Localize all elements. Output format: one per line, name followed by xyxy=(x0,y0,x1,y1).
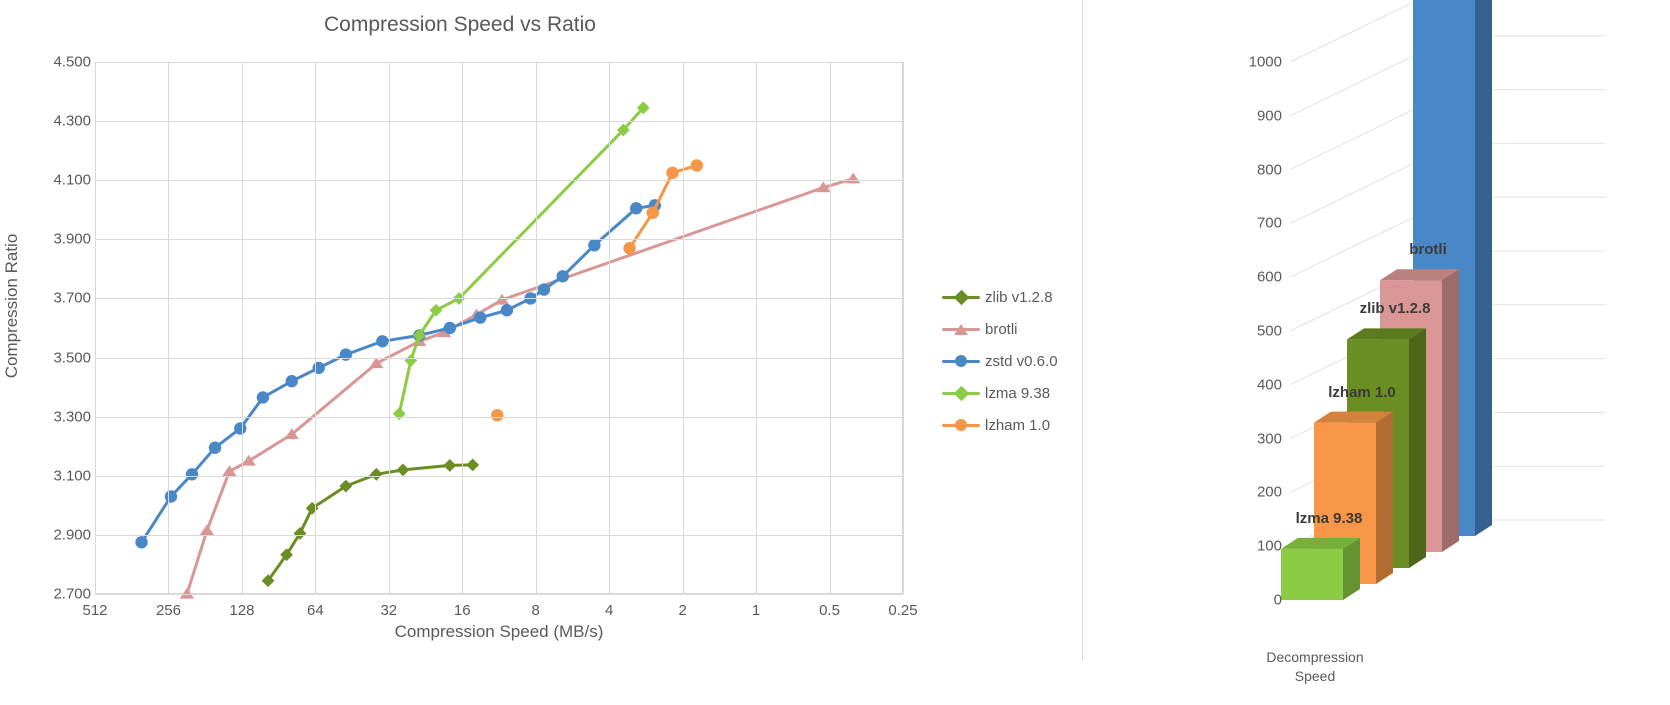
bar-series-layer xyxy=(1085,0,1670,705)
legend-marker-icon xyxy=(942,418,980,432)
bar-data-label: zlib v1.2.8 xyxy=(1360,300,1431,317)
data-point xyxy=(200,524,214,535)
y-gridline xyxy=(95,476,903,477)
series-line xyxy=(187,179,853,594)
data-point xyxy=(630,202,642,214)
y-gridline xyxy=(95,417,903,418)
data-point xyxy=(234,422,246,434)
x-gridline xyxy=(168,62,169,594)
x-axis-tick-label: 128 xyxy=(202,602,282,619)
data-point xyxy=(666,167,678,179)
legend-item-label: lzma 9.38 xyxy=(985,385,1050,402)
y-gridline xyxy=(95,180,903,181)
x-gridline xyxy=(389,62,390,594)
data-point xyxy=(393,407,406,420)
data-point xyxy=(501,304,513,316)
legend-marker-icon xyxy=(942,386,980,400)
bar-y-axis-tick-label: 100 xyxy=(1212,538,1282,555)
scatter-series xyxy=(491,159,703,421)
legend-item[interactable]: zstd v0.6.0 xyxy=(942,345,1082,377)
data-point xyxy=(257,391,269,403)
x-gridline xyxy=(683,62,684,594)
data-point xyxy=(491,409,503,421)
x-gridline xyxy=(315,62,316,594)
y-axis-tick-label: 4.500 xyxy=(0,54,91,71)
x-axis-tick-label: 0.25 xyxy=(863,602,943,619)
bar-x-axis-title-line2: Speed xyxy=(1225,667,1405,686)
legend-item-label: brotli xyxy=(985,321,1018,338)
x-axis-tick-label: 64 xyxy=(275,602,355,619)
scatter-series-layer xyxy=(95,62,903,594)
x-axis-tick-label: 4 xyxy=(569,602,649,619)
bar-y-axis-tick-label: 800 xyxy=(1212,161,1282,178)
x-gridline xyxy=(242,62,243,594)
x-gridline xyxy=(536,62,537,594)
x-axis-title: Compression Speed (MB/s) xyxy=(95,622,903,642)
bar-data-label: lzma 9.38 xyxy=(1296,510,1363,527)
bar-chart-panel: 01002003004005006007008009001000zstd v0.… xyxy=(1085,0,1670,705)
data-point xyxy=(397,463,410,476)
bar-y-axis-tick-label: 300 xyxy=(1212,430,1282,447)
series-line xyxy=(399,108,643,414)
x-gridline xyxy=(462,62,463,594)
y-axis-tick-label: 2.900 xyxy=(0,526,91,543)
chart-page: Compression Speed vs Ratio 5122561286432… xyxy=(0,0,1670,705)
x-gridline xyxy=(609,62,610,594)
data-point xyxy=(370,468,383,481)
bar-y-axis-tick-label: 400 xyxy=(1212,376,1282,393)
bar-y-axis-tick-label: 0 xyxy=(1212,592,1282,609)
y-gridline xyxy=(95,358,903,359)
scatter-plot-area: 51225612864321684210.50.254.5004.3004.10… xyxy=(95,62,903,594)
y-axis-tick-label: 2.700 xyxy=(0,586,91,603)
scatter-chart-panel: Compression Speed vs Ratio 5122561286432… xyxy=(0,0,1080,705)
legend-item-label: zstd v0.6.0 xyxy=(985,353,1058,370)
bar-side-face xyxy=(1475,0,1492,536)
bar-y-axis-tick-label: 700 xyxy=(1212,215,1282,232)
data-point xyxy=(186,468,198,480)
bar-y-axis-tick-label: 200 xyxy=(1212,484,1282,501)
x-axis-tick-label: 512 xyxy=(55,602,135,619)
data-point xyxy=(466,458,479,471)
legend-item-label: lzham 1.0 xyxy=(985,417,1050,434)
bar-x-axis-title: Decompression Speed xyxy=(1225,648,1405,686)
data-point xyxy=(557,270,569,282)
bar-column[interactable] xyxy=(1281,538,1360,600)
bar-data-label: lzham 1.0 xyxy=(1328,384,1396,401)
data-point xyxy=(376,335,388,347)
x-axis-tick-label: 256 xyxy=(128,602,208,619)
page-title: Compression Speed vs Ratio xyxy=(0,13,920,37)
data-point xyxy=(165,490,177,502)
y-gridline xyxy=(95,535,903,536)
legend-item[interactable]: lzham 1.0 xyxy=(942,409,1082,441)
legend-item[interactable]: lzma 9.38 xyxy=(942,377,1082,409)
bar-side-face xyxy=(1409,328,1426,568)
data-point xyxy=(474,311,486,323)
y-gridline xyxy=(95,121,903,122)
series-line xyxy=(268,465,473,581)
data-point xyxy=(538,283,550,295)
data-point xyxy=(444,322,456,334)
legend: zlib v1.2.8brotlizstd v0.6.0lzma 9.38lzh… xyxy=(942,281,1082,441)
data-point xyxy=(647,207,659,219)
scatter-series xyxy=(262,458,479,587)
scatter-series xyxy=(135,199,661,548)
bar-side-face xyxy=(1442,269,1459,552)
legend-marker-icon xyxy=(942,322,980,336)
data-point xyxy=(443,459,456,472)
data-point xyxy=(691,159,703,171)
panel-divider xyxy=(1082,0,1083,660)
data-point xyxy=(404,354,417,367)
x-axis-tick-label: 32 xyxy=(349,602,429,619)
bar-y-axis-tick-label: 600 xyxy=(1212,269,1282,286)
x-axis-tick-label: 16 xyxy=(422,602,502,619)
data-point xyxy=(222,465,236,476)
data-point xyxy=(369,357,383,368)
legend-marker-icon xyxy=(942,354,980,368)
legend-marker-icon xyxy=(942,290,980,304)
x-axis-tick-label: 0.5 xyxy=(790,602,870,619)
bar-front-face xyxy=(1281,549,1343,600)
data-point xyxy=(846,173,860,184)
data-point xyxy=(588,239,600,251)
data-point xyxy=(623,242,635,254)
y-gridline xyxy=(95,298,903,299)
x-gridline xyxy=(830,62,831,594)
x-axis-tick-label: 1 xyxy=(716,602,796,619)
legend-item[interactable]: zlib v1.2.8 xyxy=(942,281,1082,313)
y-gridline xyxy=(95,594,903,595)
bar-y-axis-tick-label: 1000 xyxy=(1212,54,1282,71)
data-point xyxy=(286,375,298,387)
y-gridline xyxy=(95,239,903,240)
x-gridline xyxy=(756,62,757,594)
x-gridline xyxy=(903,62,904,594)
legend-item[interactable]: brotli xyxy=(942,313,1082,345)
data-point xyxy=(209,442,221,454)
bar-y-axis-tick-label: 500 xyxy=(1212,323,1282,340)
bar-x-axis-title-line1: Decompression xyxy=(1225,648,1405,667)
bar-data-label: brotli xyxy=(1409,241,1447,258)
x-axis-tick-label: 8 xyxy=(496,602,576,619)
y-axis-title: Compression Ratio xyxy=(2,126,22,486)
data-point xyxy=(340,348,352,360)
bar-side-face xyxy=(1376,412,1393,584)
series-line xyxy=(142,205,655,542)
bar-y-axis-tick-label: 900 xyxy=(1212,107,1282,124)
data-point xyxy=(135,536,147,548)
x-axis-tick-label: 2 xyxy=(643,602,723,619)
legend-item-label: zlib v1.2.8 xyxy=(985,289,1053,306)
bar-plot-area: 01002003004005006007008009001000zstd v0.… xyxy=(1085,0,1670,705)
